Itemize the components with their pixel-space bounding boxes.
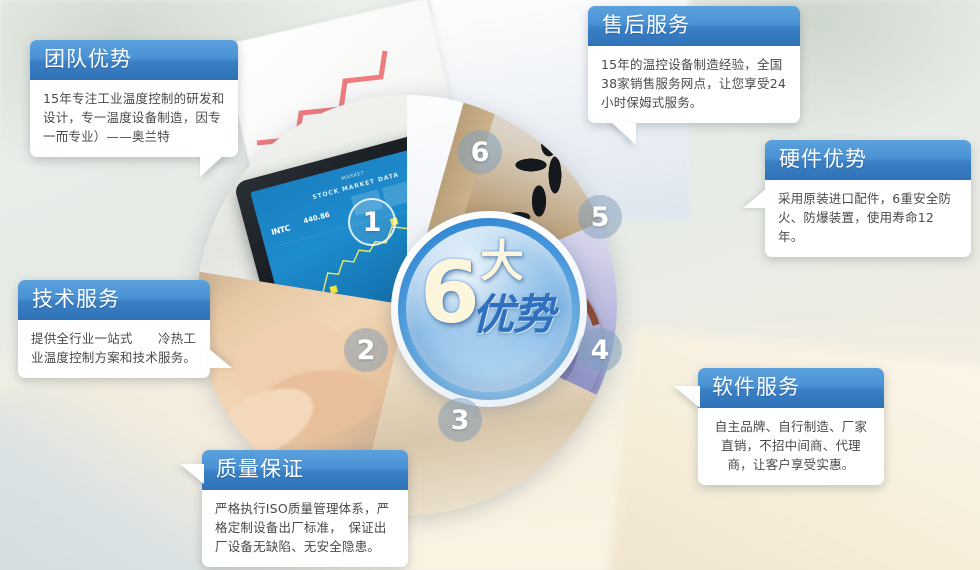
callout-quality-title: 质量保证 bbox=[202, 450, 408, 490]
center-number: 6 bbox=[420, 250, 480, 336]
center-hub-text: 6 大 优势 bbox=[406, 226, 572, 392]
callout-hardware-title: 硬件优势 bbox=[765, 140, 971, 180]
callout-hardware-tail bbox=[743, 188, 767, 208]
callout-quality-tail bbox=[180, 464, 204, 484]
badge-1-label: 1 bbox=[363, 209, 382, 236]
callout-technical-service[interactable]: 技术服务 提供全行业一站式 冷热工业温度控制方案和技术服务。 bbox=[18, 280, 210, 378]
badge-5[interactable]: 5 bbox=[578, 195, 622, 239]
infographic-canvas: MARKET STOCK MARKET DATA INTC 440.86 bbox=[0, 0, 980, 570]
callout-quality-assurance[interactable]: 质量保证 严格执行ISO质量管理体系，严格定制设备出厂标准， 保证出厂设备无缺陷… bbox=[202, 450, 408, 567]
callout-after-sales-body: 15年的温控设备制造经验，全国38家销售服务网点，让您享受24小时保姆式服务。 bbox=[588, 46, 800, 123]
center-script-text: 优势 bbox=[472, 292, 554, 338]
badge-2-label: 2 bbox=[357, 337, 376, 364]
callout-hardware-advantage[interactable]: 硬件优势 采用原装进口配件，6重安全防火、防爆装置，使用寿命12年。 bbox=[765, 140, 971, 257]
badge-3[interactable]: 3 bbox=[438, 398, 482, 442]
callout-software-title: 软件服务 bbox=[698, 368, 884, 408]
callout-after-sales-tail bbox=[610, 121, 636, 145]
screen-ticker-label: INTC bbox=[270, 223, 291, 237]
badge-2[interactable]: 2 bbox=[344, 328, 388, 372]
badge-6-label: 6 bbox=[471, 139, 490, 166]
callout-after-sales[interactable]: 售后服务 15年的温控设备制造经验，全国38家销售服务网点，让您享受24小时保姆… bbox=[588, 6, 800, 123]
climber-silhouette-icon bbox=[497, 135, 569, 225]
badge-6[interactable]: 6 bbox=[458, 130, 502, 174]
center-big-char: 大 bbox=[480, 240, 524, 284]
callout-team-body: 15年专注工业温度控制的研发和设计，专一温度设备制造，因专一而专业）——奥兰特 bbox=[30, 80, 238, 157]
callout-hardware-body: 采用原装进口配件，6重安全防火、防爆装置，使用寿命12年。 bbox=[765, 180, 971, 257]
badge-5-label: 5 bbox=[591, 204, 610, 231]
badge-4[interactable]: 4 bbox=[578, 328, 622, 372]
callout-team-tail bbox=[200, 155, 224, 177]
callout-technical-tail bbox=[208, 348, 232, 368]
badge-3-label: 3 bbox=[451, 407, 470, 434]
callout-after-sales-title: 售后服务 bbox=[588, 6, 800, 46]
callout-team-title: 团队优势 bbox=[30, 40, 238, 80]
callout-technical-body: 提供全行业一站式 冷热工业温度控制方案和技术服务。 bbox=[18, 320, 210, 378]
callout-software-tail bbox=[674, 386, 700, 408]
callout-team-advantage[interactable]: 团队优势 15年专注工业温度控制的研发和设计，专一温度设备制造，因专一而专业）—… bbox=[30, 40, 238, 157]
callout-software-service[interactable]: 软件服务 自主品牌、自行制造、厂家直销，不招中间商、代理商，让客户享受实惠。 bbox=[698, 368, 884, 485]
callout-quality-body: 严格执行ISO质量管理体系，严格定制设备出厂标准， 保证出厂设备无缺陷、无安全隐… bbox=[202, 490, 408, 567]
callout-software-body: 自主品牌、自行制造、厂家直销，不招中间商、代理商，让客户享受实惠。 bbox=[698, 408, 884, 485]
screen-value-label: 440.86 bbox=[303, 211, 331, 226]
callout-technical-title: 技术服务 bbox=[18, 280, 210, 320]
badge-4-label: 4 bbox=[591, 337, 610, 364]
badge-1[interactable]: 1 bbox=[348, 198, 396, 246]
